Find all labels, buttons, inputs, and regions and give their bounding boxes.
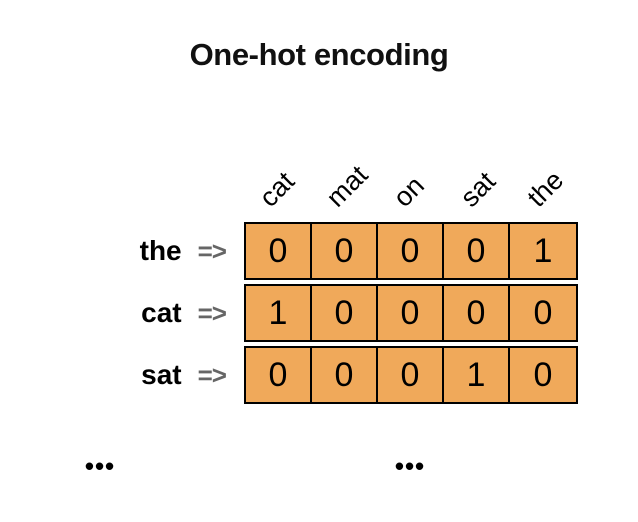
column-header-sat: sat (445, 128, 512, 214)
matrix-cell: 0 (378, 286, 444, 340)
matrix-cell: 0 (312, 348, 378, 402)
matrix-cell: 0 (510, 286, 576, 340)
row-label-sat: sat => (141, 346, 244, 404)
matrix-cell: 1 (444, 348, 510, 402)
column-header-label: the (522, 166, 568, 212)
ellipsis-matrix: ••• (395, 453, 425, 479)
matrix-row-the: 0 0 0 0 1 (244, 222, 578, 280)
matrix-cell: 0 (246, 224, 312, 278)
column-header-label: mat (321, 161, 372, 212)
column-header-label: on (388, 172, 428, 212)
column-header-label: cat (254, 167, 299, 212)
matrix-cell: 0 (510, 348, 576, 402)
matrix-row-cat: 1 0 0 0 0 (244, 284, 578, 342)
one-hot-matrix: the => 0 0 0 0 1 cat => 1 0 0 0 0 sat => (244, 222, 578, 408)
matrix-row-sat: 0 0 0 1 0 (244, 346, 578, 404)
matrix-cell: 1 (246, 286, 312, 340)
row-word: the (140, 237, 182, 265)
row-label-cat: cat => (141, 284, 244, 342)
table-row: the => 0 0 0 0 1 (244, 222, 578, 284)
column-header-on: on (378, 128, 445, 214)
column-header-label: sat (455, 167, 500, 212)
ellipsis-row-labels: ••• (85, 453, 115, 479)
column-header-mat: mat (311, 128, 378, 214)
arrow-icon: => (198, 238, 226, 264)
arrow-icon: => (198, 300, 226, 326)
matrix-cell: 1 (510, 224, 576, 278)
column-header-row: cat mat on sat the (244, 128, 578, 214)
page-title: One-hot encoding (0, 36, 638, 74)
row-label-the: the => (140, 222, 244, 280)
table-row: sat => 0 0 0 1 0 (244, 346, 578, 408)
table-row: cat => 1 0 0 0 0 (244, 284, 578, 346)
matrix-cell: 0 (312, 286, 378, 340)
row-word: sat (141, 361, 181, 389)
matrix-cell: 0 (312, 224, 378, 278)
column-header-the: the (512, 128, 579, 214)
matrix-cell: 0 (378, 224, 444, 278)
row-word: cat (141, 299, 181, 327)
matrix-cell: 0 (444, 286, 510, 340)
matrix-cell: 0 (444, 224, 510, 278)
column-header-cat: cat (244, 128, 311, 214)
arrow-icon: => (198, 362, 226, 388)
matrix-cell: 0 (246, 348, 312, 402)
matrix-cell: 0 (378, 348, 444, 402)
